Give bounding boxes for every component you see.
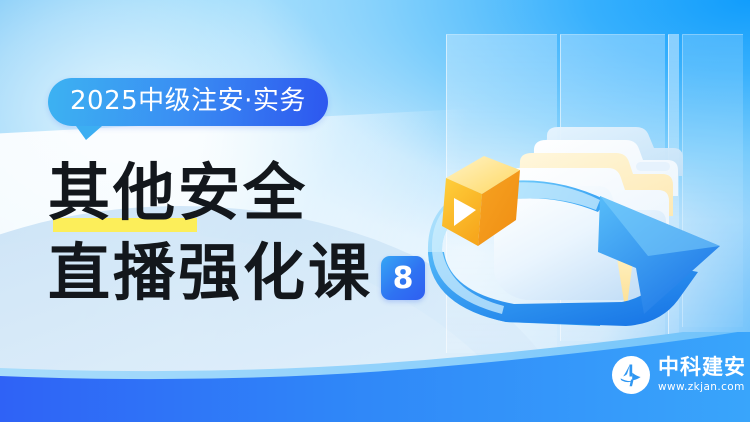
course-banner: 2025中级注安·实务 其他安全 直播强化课 8 中科建安 www.zkjan.… bbox=[0, 0, 750, 422]
brand-text: 中科建安 www.zkjan.com bbox=[658, 357, 746, 393]
course-tag-label: 2025中级注安·实务 bbox=[48, 78, 328, 126]
brand-logo[interactable]: 中科建安 www.zkjan.com bbox=[612, 356, 746, 394]
brand-url: www.zkjan.com bbox=[658, 382, 746, 393]
page-title: 其他安全 直播强化课 8 bbox=[48, 158, 425, 308]
title-line-1-text: 其他安全 bbox=[48, 156, 308, 229]
brand-mark-icon bbox=[612, 356, 650, 394]
course-tag-tail bbox=[76, 126, 102, 140]
illustration-folder-arrow-cube bbox=[430, 100, 730, 340]
brand-name: 中科建安 bbox=[658, 357, 746, 378]
title-line-2-text: 直播强化课 bbox=[48, 238, 373, 308]
episode-badge: 8 bbox=[381, 256, 425, 300]
title-line-1: 其他安全 bbox=[48, 158, 425, 228]
title-line-2: 直播强化课 8 bbox=[48, 234, 425, 308]
course-tag: 2025中级注安·实务 bbox=[48, 78, 328, 126]
